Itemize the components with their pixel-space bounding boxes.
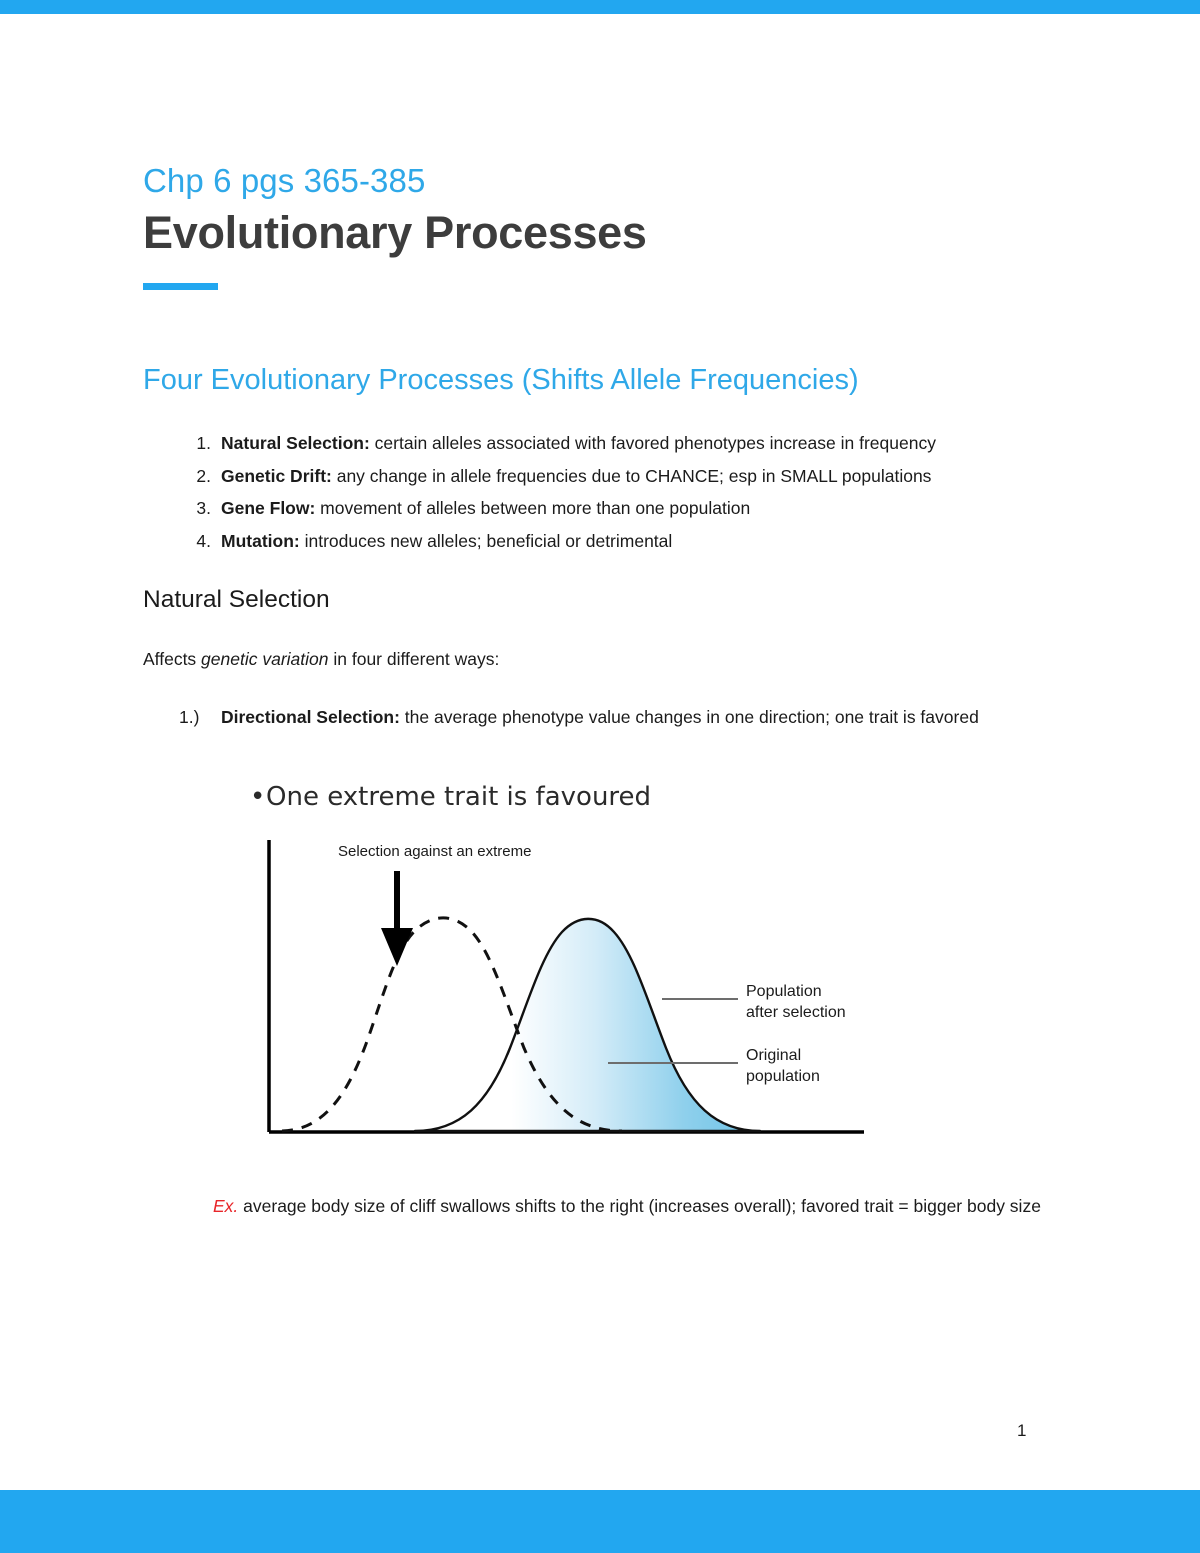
list-item-text: movement of alleles between more than on… <box>315 498 750 518</box>
list-item-term: Gene Flow: <box>221 498 315 518</box>
section-heading-four-processes: Four Evolutionary Processes (Shifts Alle… <box>143 363 1073 398</box>
directional-selection-figure: Selection against an extreme Population … <box>260 836 870 1146</box>
legend-label-original-population-line1: Original <box>746 1047 801 1064</box>
title-block: Chp 6 pgs 365-385 Evolutionary Processes <box>143 162 1073 290</box>
list-item: Genetic Drift: any change in allele freq… <box>221 460 1073 492</box>
example-text: average body size of cliff swallows shif… <box>238 1196 1041 1216</box>
natural-selection-intro: Affects genetic variation in four differ… <box>143 643 1073 675</box>
example-tag: Ex. <box>213 1196 238 1216</box>
population-after-selection-curve <box>415 919 760 1131</box>
title-accent-rule <box>143 283 218 290</box>
document-page: Chp 6 pgs 365-385 Evolutionary Processes… <box>0 14 1200 1490</box>
embedded-slide: •One extreme trait is favoured <box>143 781 1073 1146</box>
list-item-text: any change in allele frequencies due to … <box>332 466 932 486</box>
page-number: 1 <box>1017 1422 1026 1439</box>
intro-text-after: in four different ways: <box>329 649 500 669</box>
legend-label-original-population-line2: population <box>746 1068 820 1085</box>
list-item-text: the average phenotype value changes in o… <box>400 707 979 727</box>
bullet-dot-icon: • <box>250 781 266 814</box>
document-content: Chp 6 pgs 365-385 Evolutionary Processes… <box>143 162 1073 1222</box>
intro-text-italic: genetic variation <box>201 649 328 669</box>
legend-label-population-after-selection-line2: after selection <box>746 1004 846 1021</box>
page-bottom-accent-bar <box>0 1490 1200 1553</box>
selection-against-extreme-label: Selection against an extreme <box>338 843 531 860</box>
slide-bullet-line: •One extreme trait is favoured <box>250 781 1073 814</box>
list-item-term: Directional Selection: <box>221 707 400 727</box>
list-item: Natural Selection: certain alleles assoc… <box>221 427 1073 459</box>
intro-text-before: Affects <box>143 649 201 669</box>
slide-bullet-text: One extreme trait is favoured <box>266 782 651 812</box>
page-top-accent-bar <box>0 0 1200 14</box>
page-title: Evolutionary Processes <box>143 207 1073 259</box>
list-item-term: Genetic Drift: <box>221 466 332 486</box>
document-kicker: Chp 6 pgs 365-385 <box>143 162 1073 201</box>
natural-selection-list: Directional Selection: the average pheno… <box>143 701 1073 733</box>
directional-selection-chart: Selection against an extreme Population … <box>260 836 870 1146</box>
list-item-text: introduces new alleles; beneficial or de… <box>300 531 673 551</box>
list-item-term: Mutation: <box>221 531 300 551</box>
example-note: Ex. average body size of cliff swallows … <box>213 1190 1073 1222</box>
four-processes-list: Natural Selection: certain alleles assoc… <box>143 427 1073 557</box>
list-item-term: Natural Selection: <box>221 433 370 453</box>
legend-label-population-after-selection-line1: Population <box>746 983 822 1000</box>
list-item: Directional Selection: the average pheno… <box>221 701 1073 733</box>
selection-against-extreme-arrow <box>381 871 413 966</box>
sub-heading-natural-selection: Natural Selection <box>143 585 1073 616</box>
list-item: Gene Flow: movement of alleles between m… <box>221 492 1073 524</box>
list-item-text: certain alleles associated with favored … <box>370 433 936 453</box>
list-item: Mutation: introduces new alleles; benefi… <box>221 525 1073 557</box>
